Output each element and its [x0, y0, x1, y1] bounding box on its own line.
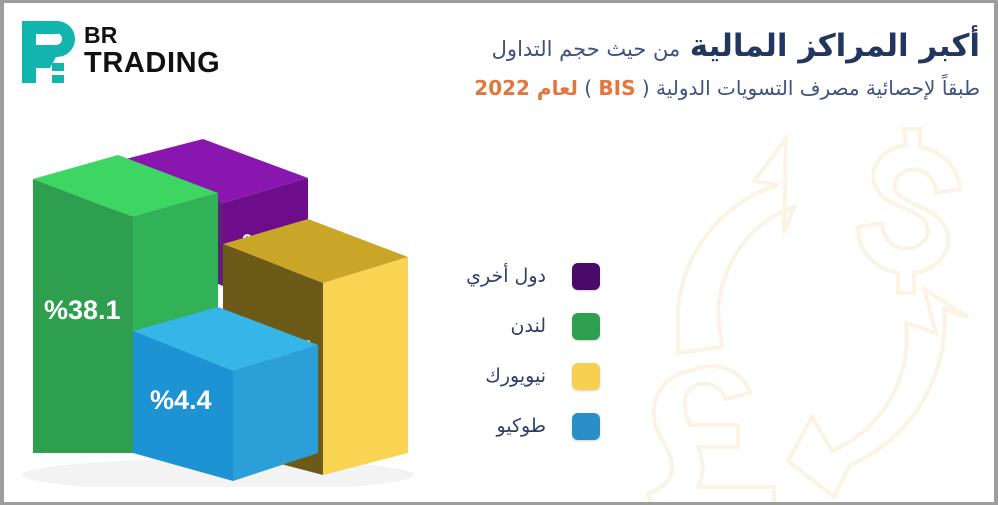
legend-label-new-york: نيويورك: [485, 365, 546, 387]
page-title-sub: من حيث حجم التداول: [492, 37, 681, 61]
bar-london-label: %38.1: [44, 295, 121, 325]
legend-item-tokyo[interactable]: طوكيو: [440, 401, 600, 451]
page-title: أكبر المراكز المالية من حيث حجم التداول: [340, 27, 980, 68]
legend-item-new-york[interactable]: نيويورك: [440, 351, 600, 401]
page-title-strong: أكبر المراكز المالية: [690, 28, 980, 64]
currency-cycle-watermark: [606, 121, 994, 502]
legend-swatch-london: [572, 313, 600, 340]
brand-name-line2: TRADING: [84, 48, 220, 79]
legend-swatch-other-countries: [572, 263, 600, 290]
heading-block: أكبر المراكز المالية من حيث حجم التداول …: [340, 27, 980, 102]
legend-swatch-tokyo: [572, 413, 600, 440]
legend-item-other-countries[interactable]: دول أخري: [440, 251, 600, 301]
legend-label-other-countries: دول أخري: [466, 265, 546, 287]
subtitle-bis-label: BIS: [598, 76, 635, 100]
chart-legend: دول أخري لندن نيويورك طوكيو: [440, 251, 600, 451]
legend-label-london: لندن: [511, 315, 546, 337]
bar-tokyo-label: %4.4: [150, 385, 212, 415]
brand-wordmark: BR TRADING: [84, 23, 220, 79]
subtitle-mid: ): [578, 76, 599, 100]
brand-logo[interactable]: BR TRADING: [22, 17, 252, 87]
subtitle-year-label: لعام 2022: [474, 76, 578, 100]
infographic-canvas: BR TRADING أكبر المراكز المالية من حيث ح…: [4, 3, 994, 502]
legend-label-tokyo: طوكيو: [496, 415, 546, 437]
brand-name-line1: BR: [84, 23, 220, 48]
bar-new-york-face-right: [323, 257, 408, 475]
legend-item-london[interactable]: لندن: [440, 301, 600, 351]
bar-chart-3d: %38.1 %19.4 %38.1: [18, 131, 448, 487]
legend-swatch-new-york: [572, 363, 600, 390]
br-logo-mark-icon: [22, 21, 78, 83]
subtitle-prefix: طبقاً لإحصائية مصرف التسويات الدولية (: [636, 76, 980, 100]
page-subtitle: طبقاً لإحصائية مصرف التسويات الدولية ( B…: [340, 74, 980, 102]
